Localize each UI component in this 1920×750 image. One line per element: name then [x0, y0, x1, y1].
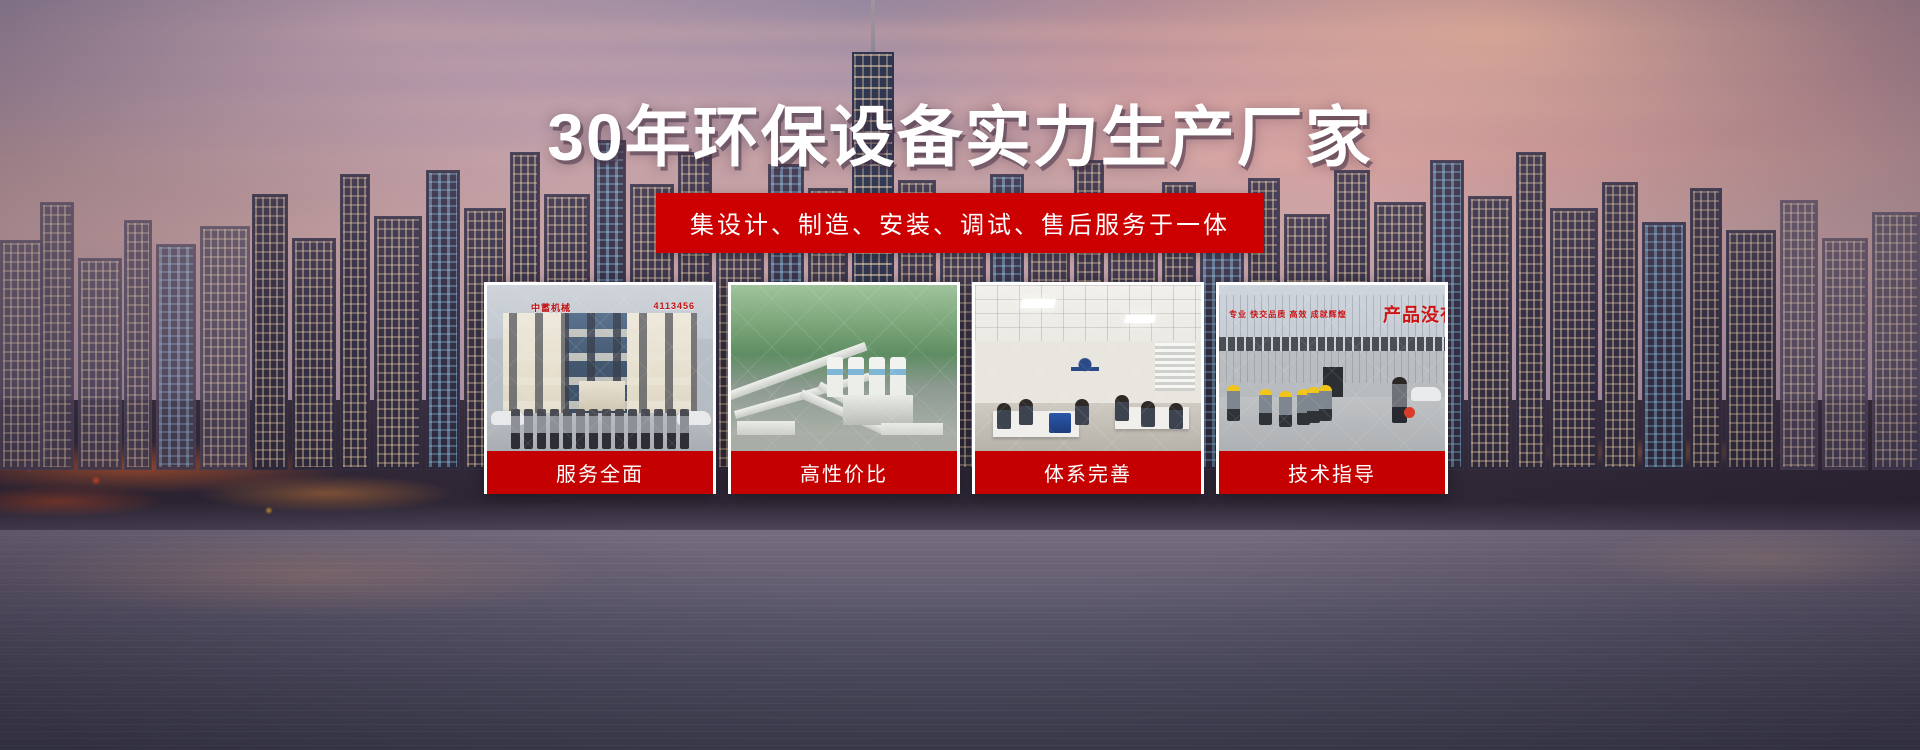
feature-card[interactable]: 高性价比: [728, 282, 960, 494]
worker-figure: [1307, 387, 1320, 423]
building-phone-text: 4113456: [653, 301, 695, 311]
supervisor-figure: [1392, 377, 1407, 423]
page-title: 30年环保设备实力生产厂家: [0, 104, 1920, 170]
conveyor-belt: [734, 373, 871, 419]
parked-van: [1411, 387, 1441, 401]
storage-silos: [827, 357, 906, 397]
worker-figure: [1319, 385, 1332, 421]
subtitle-banner: 集设计、制造、安装、调试、售后服务于一体: [656, 193, 1264, 253]
worker-figure: [1227, 385, 1240, 421]
building-facade: [503, 313, 697, 417]
card-caption: 高性价比: [731, 451, 957, 494]
office-floor: [975, 403, 1201, 451]
desk-item: [1049, 413, 1071, 433]
seated-person: [1141, 401, 1155, 427]
card-photo-aerial-plant: [731, 285, 957, 451]
seated-person: [1169, 403, 1183, 429]
conveyor-belt: [817, 382, 925, 449]
factory-slogan-text: 产品没有: [1383, 301, 1445, 327]
card-photo-factory-yard: 专业 快交品质 高效 成就辉煌 产品没有: [1219, 285, 1445, 451]
building-entrance: [579, 381, 625, 411]
feature-card[interactable]: 专业 快交品质 高效 成就辉煌 产品没有 技术指导: [1216, 282, 1448, 494]
meeting-desk: [993, 411, 1079, 437]
river-water: [0, 500, 1920, 750]
factory-window-band: [1219, 337, 1445, 351]
safety-helmet-icon: [1404, 407, 1415, 418]
plant-building: [881, 423, 943, 447]
wall-logo-icon: [1071, 355, 1099, 379]
worker-figure: [1279, 391, 1292, 427]
card-caption: 体系完善: [975, 451, 1201, 494]
ceiling-light: [1020, 299, 1057, 308]
card-caption: 服务全面: [487, 451, 713, 494]
building-forecourt: [487, 413, 713, 451]
seated-person: [1115, 395, 1129, 421]
plant-yard: [731, 435, 957, 451]
factory-yard-ground: [1219, 397, 1445, 451]
card-photo-office-building: 中蓄机械 4113456: [487, 285, 713, 451]
conveyor-belt: [799, 389, 921, 450]
seated-person: [997, 403, 1011, 429]
factory-wall: [1219, 295, 1445, 383]
office-wall: [975, 341, 1201, 403]
plant-building: [843, 395, 913, 425]
factory-slogan-left: 专业 快交品质 高效 成就辉煌: [1229, 309, 1347, 321]
worker-figure: [1259, 389, 1272, 425]
feature-card-row: 中蓄机械 4113456 服务全面: [484, 282, 1436, 494]
feature-card[interactable]: 中蓄机械 4113456 服务全面: [484, 282, 716, 494]
building-sign-text: 中蓄机械: [531, 301, 571, 314]
card-caption: 技术指导: [1219, 451, 1445, 494]
plant-building: [737, 421, 795, 443]
ceiling-light: [1124, 315, 1156, 323]
window-blinds: [1155, 343, 1195, 391]
card-photo-office-interior: [975, 285, 1201, 451]
seated-person: [1075, 399, 1089, 425]
ceiling-grid: [975, 285, 1201, 341]
factory-door: [1323, 367, 1343, 397]
worker-figure: [1297, 389, 1310, 425]
seated-person: [1019, 399, 1033, 425]
feature-card[interactable]: 体系完善: [972, 282, 1204, 494]
parked-car: [491, 411, 525, 425]
hero-banner: 30年环保设备实力生产厂家 集设计、制造、安装、调试、售后服务于一体 中蓄机械 …: [0, 0, 1920, 750]
meeting-desk: [1115, 407, 1189, 429]
staff-lineup: [511, 409, 689, 449]
conveyor-belt: [731, 342, 867, 402]
parked-car: [677, 411, 711, 425]
